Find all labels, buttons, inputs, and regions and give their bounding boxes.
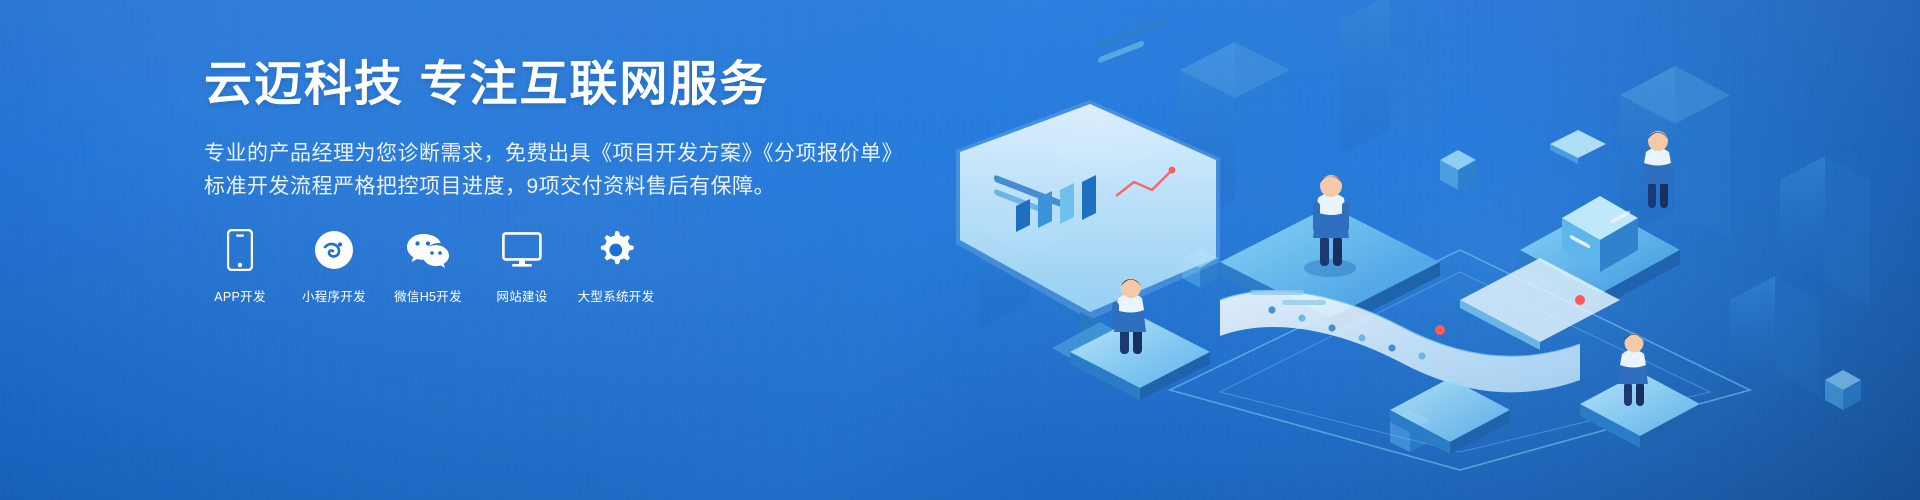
gear-icon xyxy=(595,228,637,272)
figure-right-lower xyxy=(1580,334,1700,449)
phone-icon xyxy=(227,228,253,272)
service-list: APP开发 小程序开发 xyxy=(204,228,674,305)
floating-card xyxy=(1550,130,1606,164)
service-item-website[interactable]: 网站建设 xyxy=(486,228,558,305)
subtitle-line-2: 标准开发流程严格把控项目进度，9项交付资料售后有保障。 xyxy=(204,170,964,203)
wechat-icon xyxy=(406,228,450,272)
service-item-app[interactable]: APP开发 xyxy=(204,228,276,305)
subtitle-line-1: 专业的产品经理为您诊断需求，免费出具《项目开发方案》《分项报价单》 xyxy=(204,137,964,170)
service-item-wechat-h5[interactable]: 微信H5开发 xyxy=(392,228,464,305)
service-label: 网站建设 xyxy=(496,286,547,305)
hero-copy: 云迈科技 专注互联网服务 专业的产品经理为您诊断需求，免费出具《项目开发方案》《… xyxy=(204,60,964,203)
service-label: 微信H5开发 xyxy=(394,286,462,305)
hero-banner: 云迈科技 专注互联网服务 专业的产品经理为您诊断需求，免费出具《项目开发方案》《… xyxy=(0,0,1920,500)
service-label: 大型系统开发 xyxy=(578,286,655,305)
isometric-tech-illustration xyxy=(920,0,1920,500)
service-label: APP开发 xyxy=(214,286,266,305)
monitor-icon xyxy=(502,228,542,272)
service-item-mini-program[interactable]: 小程序开发 xyxy=(298,228,370,305)
service-label: 小程序开发 xyxy=(302,286,366,305)
service-item-large-system[interactable]: 大型系统开发 xyxy=(580,228,652,305)
page-title: 云迈科技 专注互联网服务 xyxy=(204,60,964,111)
mini-program-icon xyxy=(314,228,354,272)
